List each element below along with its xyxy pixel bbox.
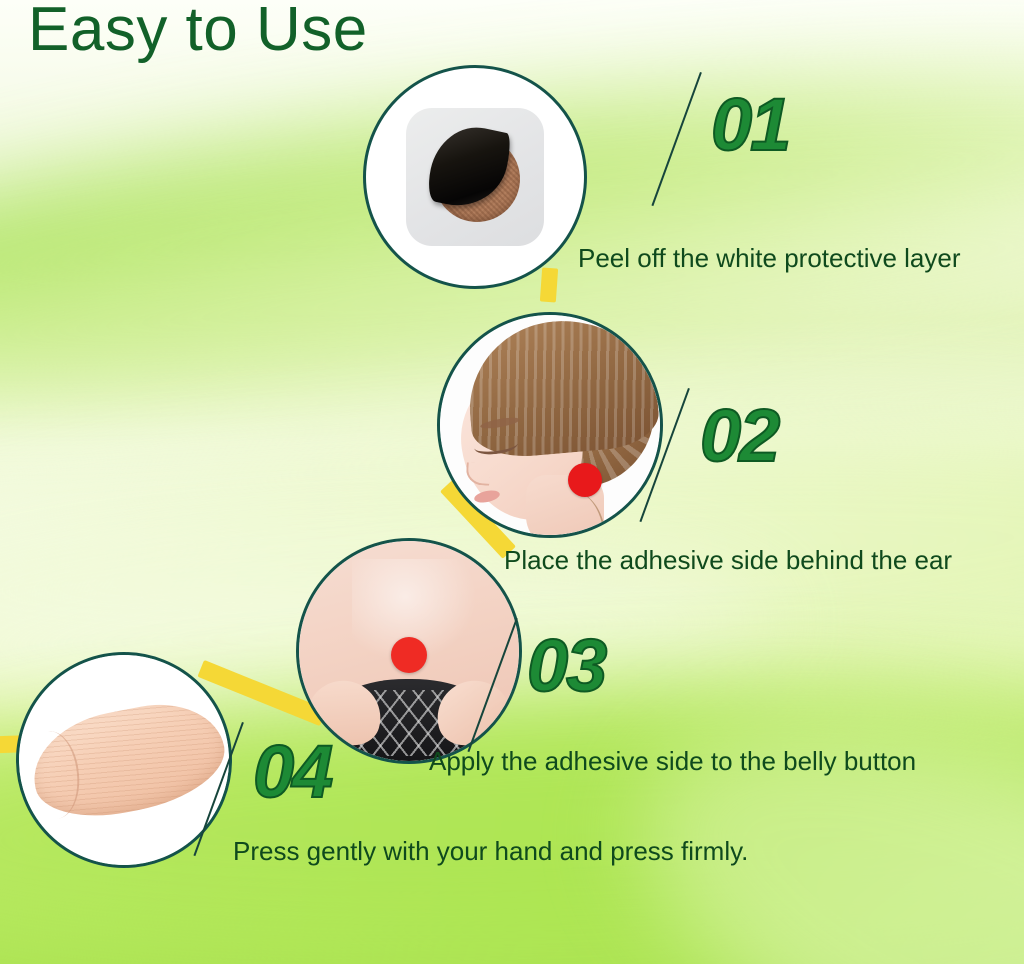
step-4-caption: Press gently with your hand and press fi…	[233, 836, 748, 867]
patch-peel-photo	[366, 68, 584, 286]
page-title: Easy to Use	[28, 0, 368, 64]
step-3-number: 03	[527, 629, 605, 703]
step-3-caption: Apply the adhesive side to the belly but…	[429, 746, 916, 777]
step-2-photo-circle	[437, 312, 663, 538]
connector-step1-step2	[540, 267, 558, 302]
step-4-number: 04	[253, 735, 331, 809]
patch-marker-dot-ear	[568, 463, 602, 497]
step-2-caption: Place the adhesive side behind the ear	[504, 545, 952, 576]
step-1-caption: Peel off the white protective layer	[578, 243, 961, 274]
step-1-photo-circle	[363, 65, 587, 289]
necklace	[540, 529, 614, 535]
step-2-number: 02	[700, 399, 778, 473]
belly-button-photo	[299, 541, 519, 761]
step-1-number: 01	[711, 88, 789, 162]
woman-profile-ear-photo	[440, 315, 660, 535]
patch-card	[406, 108, 544, 246]
infographic-canvas: Easy to Use 01 Peel off the white protec…	[0, 0, 1024, 964]
fingertip-press-photo	[19, 655, 229, 865]
